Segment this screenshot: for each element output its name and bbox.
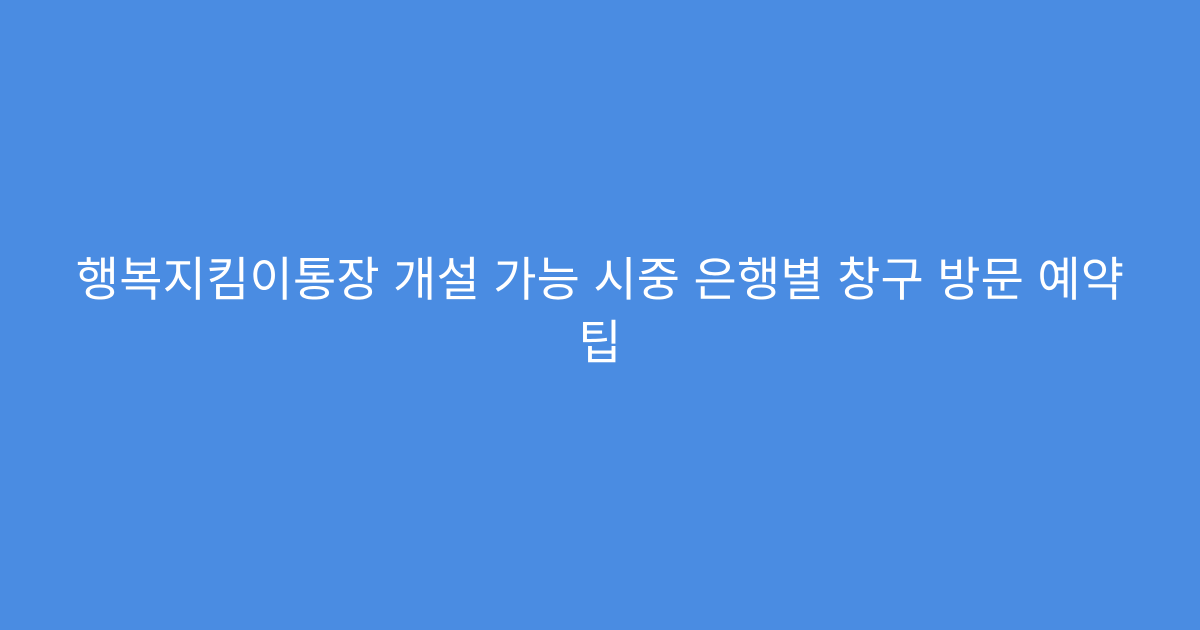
og-title-card: 행복지킴이통장 개설 가능 시중 은행별 창구 방문 예약 팁 bbox=[0, 0, 1200, 630]
title-block: 행복지킴이통장 개설 가능 시중 은행별 창구 방문 예약 팁 bbox=[70, 248, 1130, 374]
page-title: 행복지킴이통장 개설 가능 시중 은행별 창구 방문 예약 팁 bbox=[74, 248, 1126, 374]
